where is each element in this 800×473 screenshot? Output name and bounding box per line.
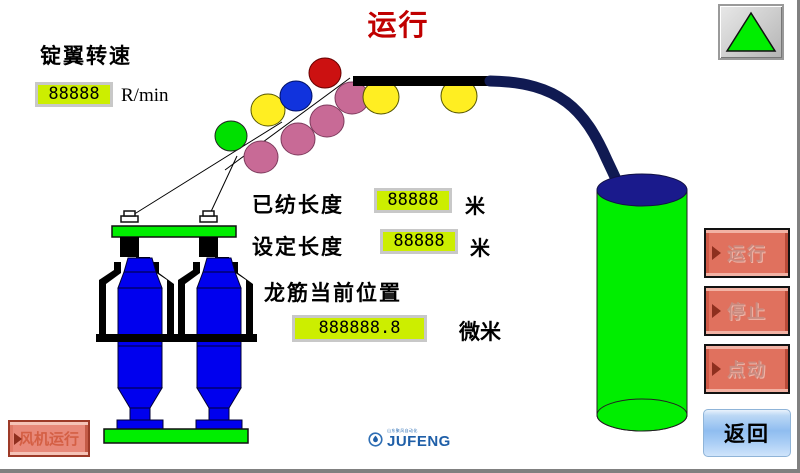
spindle-bolt-right-head	[203, 211, 214, 216]
jog-button-label: 点动	[727, 356, 767, 382]
spindle-speed-label: 锭翼转速	[40, 40, 132, 70]
jufeng-swirl-icon	[367, 431, 384, 448]
back-button-label: 返回	[724, 418, 770, 448]
set-length-value[interactable]: 88888	[380, 229, 458, 254]
rib-position-label: 龙筋当前位置	[264, 277, 402, 307]
spindle-base-plate	[104, 429, 248, 443]
play-arrow-icon	[712, 304, 721, 318]
flyer-spindle-left	[96, 237, 178, 429]
fan-run-button-label: 风机运行	[19, 428, 79, 449]
fan-run-button[interactable]: 风机运行	[8, 420, 90, 457]
logo-text: JUFENG	[387, 434, 451, 449]
rib-position-unit: 微米	[459, 316, 501, 346]
play-arrow-icon	[712, 362, 721, 376]
spindle-bolt-right-cap	[200, 216, 217, 222]
roller-green	[215, 121, 247, 151]
spindle-speed-value[interactable]: 88888	[35, 82, 113, 107]
roller-pink-1	[244, 141, 278, 173]
stop-button-label: 停止	[727, 298, 767, 324]
sliver-can-body	[597, 190, 687, 431]
play-arrow-icon	[712, 246, 721, 260]
stop-button[interactable]: 停止	[704, 286, 790, 336]
top-guide-bar	[353, 76, 496, 86]
spindle-speed-unit: R/min	[121, 85, 169, 107]
spindle-bolt-left-cap	[121, 216, 138, 222]
roller-pink-2	[281, 123, 315, 155]
roller-red	[309, 58, 341, 88]
sliver-tube	[490, 81, 622, 192]
jog-button[interactable]: 点动	[704, 344, 790, 394]
spun-length-unit: 米	[465, 190, 485, 219]
hmi-screen: 运行	[0, 0, 800, 473]
brand-logo: 山东聚风自动化 JUFENG	[367, 429, 451, 449]
run-button[interactable]: 运行	[704, 228, 790, 278]
play-arrow-icon	[14, 433, 22, 445]
set-length-unit: 米	[470, 232, 490, 261]
run-button-label: 运行	[727, 240, 767, 266]
set-length-label: 设定长度	[252, 231, 344, 261]
spindle-bolt-left-head	[124, 211, 135, 216]
spindle-top-plate	[112, 226, 236, 237]
sliver-can-top	[597, 174, 687, 206]
back-button[interactable]: 返回	[703, 409, 791, 457]
flyer-spindle-right	[175, 237, 257, 429]
spun-length-value[interactable]: 88888	[374, 188, 452, 213]
rib-position-value[interactable]: 888888.8	[292, 315, 427, 342]
roller-pink-3	[310, 105, 344, 137]
spun-length-label: 已纺长度	[252, 189, 344, 219]
roller-blue	[280, 81, 312, 111]
